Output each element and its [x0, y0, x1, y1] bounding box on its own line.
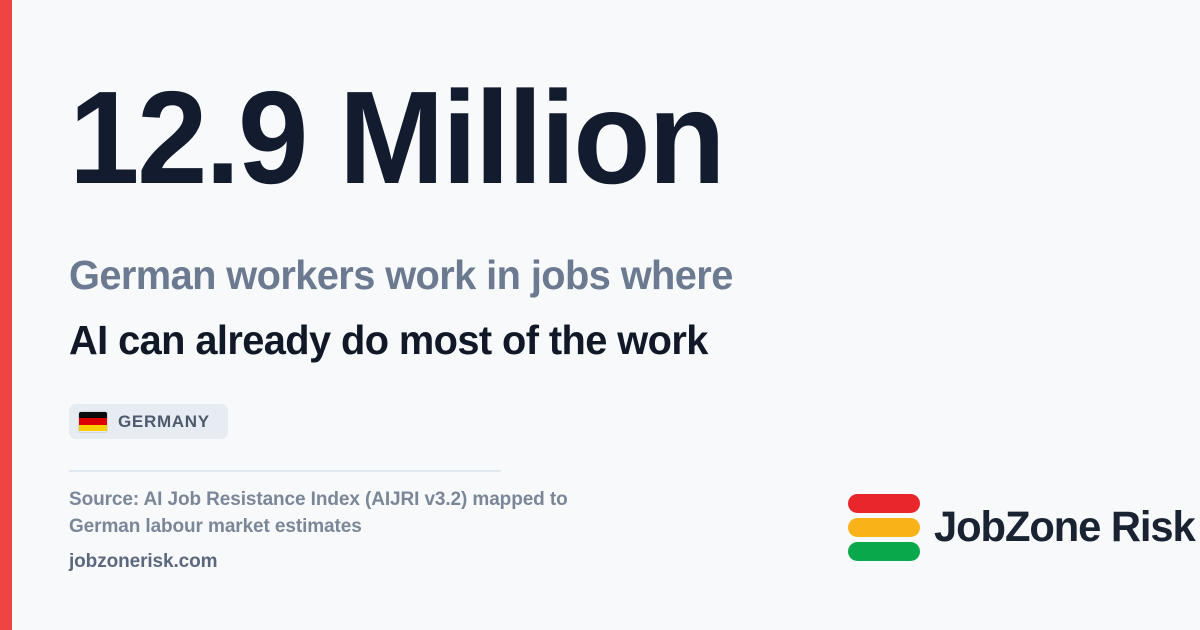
source-attribution: Source: AI Job Resistance Index (AIJRI v…: [69, 486, 589, 540]
logo-bar-green: [848, 542, 920, 561]
flag-band-gold: [79, 425, 107, 432]
country-badge-label: GERMANY: [118, 412, 210, 432]
country-badge: GERMANY: [69, 404, 228, 439]
jobzone-risk-bars-icon: [848, 494, 920, 561]
website-url: jobzonerisk.com: [69, 550, 589, 574]
footer-text-block: Source: AI Job Resistance Index (AIJRI v…: [69, 486, 589, 574]
brand-logo: JobZone Risk: [848, 494, 1200, 561]
footer-divider: [69, 470, 501, 472]
subheadline-line-2: AI can already do most of the work: [69, 308, 1039, 373]
brand-name-label: JobZone Risk: [934, 506, 1195, 549]
headline-stat-value: 12.9 Million: [69, 72, 723, 204]
subheadline-line-1: German workers work in jobs where: [69, 243, 1039, 308]
subheadline-block: German workers work in jobs where AI can…: [69, 243, 1069, 373]
stat-card: 12.9 Million German workers work in jobs…: [12, 0, 1200, 630]
left-accent-stripe: [0, 0, 12, 630]
logo-bar-red: [848, 494, 920, 513]
logo-bar-amber: [848, 518, 920, 537]
flag-band-black: [79, 412, 107, 419]
flag-band-red: [79, 418, 107, 425]
germany-flag-icon: [79, 412, 107, 432]
